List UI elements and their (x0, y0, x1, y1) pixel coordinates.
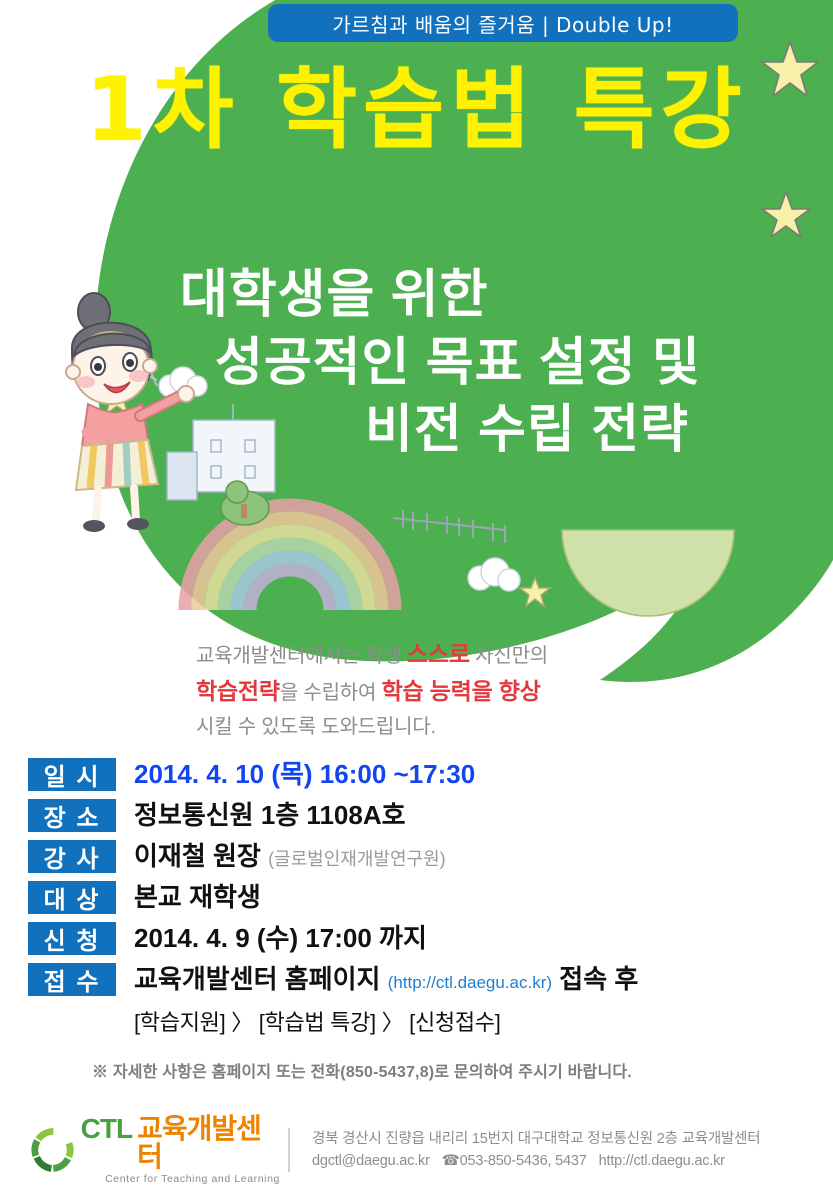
footer-website[interactable]: http://ctl.daegu.ac.kr (599, 1153, 725, 1169)
info-row-place: 장 소 정보통신원 1층 1108A호 (28, 799, 818, 837)
description-text-c: 을 수립하여 (280, 682, 382, 704)
footer-address-line: 경북 경산시 진량읍 내리리 15번지 대구대학교 정보통신원 2층 교육개발센… (312, 1128, 760, 1150)
lecturer-name: 이재철 원장 (134, 841, 261, 871)
info-value-lecturer: 이재철 원장 (글로벌인재개발연구원) (116, 840, 446, 876)
subtitle-line-2: 성공적인 목표 설정 및 (120, 330, 800, 398)
footer-address: 경북 경산시 진량읍 내리리 15번지 대구대학교 정보통신원 2층 교육개발센… (312, 1128, 760, 1173)
logo-english-text: Center for Teaching and Learning (81, 1174, 280, 1185)
subtitle-block: 대학생을 위한 성공적인 목표 설정 및 비전 수립 전략 (120, 262, 800, 465)
info-table: 일 시 2014. 4. 10 (목) 16:00 ~17:30 장 소 정보통… (28, 758, 818, 1041)
application-url[interactable]: (http://ctl.daegu.ac.kr) (388, 973, 552, 992)
logo-korean-text: 교육개발센터 (137, 1115, 280, 1171)
info-value-application: 교육개발센터 홈페이지 (http://ctl.daegu.ac.kr) 접속 … (116, 963, 638, 999)
description-text-a: 교육개발센터에서는 학생 (196, 645, 407, 667)
info-label-lecturer: 강 사 (28, 840, 116, 873)
phone-icon: ☎ (442, 1153, 460, 1169)
footer-bar: CTL 교육개발센터 Center for Teaching and Learn… (0, 1112, 833, 1188)
info-row-datetime: 일 시 2014. 4. 10 (목) 16:00 ~17:30 (28, 758, 818, 796)
footer-divider (288, 1128, 290, 1172)
application-text-b: 접속 후 (552, 964, 638, 994)
description-block: 교육개발센터에서는 학생 스스로 자신만의 학습전략을 수립하여 학습 능력을 … (196, 636, 548, 743)
description-line-3: 시킬 수 있도록 도와드립니다. (196, 711, 548, 743)
info-row-application: 접 수 교육개발센터 홈페이지 (http://ctl.daegu.ac.kr)… (28, 963, 818, 1001)
info-value-datetime: 2014. 4. 10 (목) 16:00 ~17:30 (116, 758, 475, 791)
footnote-text: ※ 자세한 사항은 홈페이지 또는 전화(850-5437,8)로 문의하여 주… (92, 1058, 632, 1082)
info-value-audience: 본교 재학생 (116, 881, 261, 914)
info-row-deadline: 신 청 2014. 4. 9 (수) 17:00 까지 (28, 922, 818, 960)
info-row-lecturer: 강 사 이재철 원장 (글로벌인재개발연구원) (28, 840, 818, 878)
ctl-ring-icon (30, 1126, 77, 1174)
description-text-b: 자신만의 (470, 645, 548, 667)
info-label-application: 접 수 (28, 963, 116, 996)
application-text-a: 교육개발센터 홈페이지 (134, 964, 388, 994)
info-label-deadline: 신 청 (28, 922, 116, 955)
page-title: 1차 학습법 특강 (0, 62, 833, 159)
description-line-1: 교육개발센터에서는 학생 스스로 자신만의 (196, 636, 548, 673)
info-label-datetime: 일 시 (28, 758, 116, 791)
subtitle-line-1: 대학생을 위한 (120, 262, 800, 330)
application-path: [학습지원] 〉 [학습법 특강] 〉 [신청접수] (28, 1005, 818, 1037)
info-value-place: 정보통신원 1층 1108A호 (116, 799, 406, 832)
description-highlight-2: 학습전략 (196, 678, 280, 704)
top-ribbon-banner: 가르침과 배움의 즐거움 | Double Up! (268, 4, 738, 42)
info-value-deadline: 2014. 4. 9 (수) 17:00 까지 (116, 922, 427, 955)
ribbon-text: 가르침과 배움의 즐거움 | Double Up! (332, 9, 673, 38)
info-label-audience: 대 상 (28, 881, 116, 914)
footer-contact-line: dgctl@daegu.ac.kr☎053-850-5436, 5437http… (312, 1150, 760, 1172)
description-highlight-3: 학습 능력을 향상 (382, 678, 541, 704)
description-line-2: 학습전략을 수립하여 학습 능력을 향상 (196, 673, 548, 710)
description-highlight-1: 스스로 (407, 641, 470, 667)
subtitle-line-3: 비전 수립 전략 (120, 397, 800, 465)
info-label-place: 장 소 (28, 799, 116, 832)
info-row-audience: 대 상 본교 재학생 (28, 881, 818, 919)
logo-ctl-text: CTL (81, 1115, 132, 1143)
footer-phone: 053-850-5436, 5437 (460, 1153, 587, 1169)
footer-email[interactable]: dgctl@daegu.ac.kr (312, 1153, 430, 1169)
ctl-logo-words: CTL 교육개발센터 Center for Teaching and Learn… (81, 1115, 280, 1185)
lecturer-affiliation: (글로벌인재개발연구원) (268, 849, 446, 869)
ctl-logo: CTL 교육개발센터 Center for Teaching and Learn… (0, 1115, 280, 1185)
poster-root: 가르침과 배움의 즐거움 | Double Up! 1차 학습법 특강 대학생을… (0, 0, 833, 1188)
